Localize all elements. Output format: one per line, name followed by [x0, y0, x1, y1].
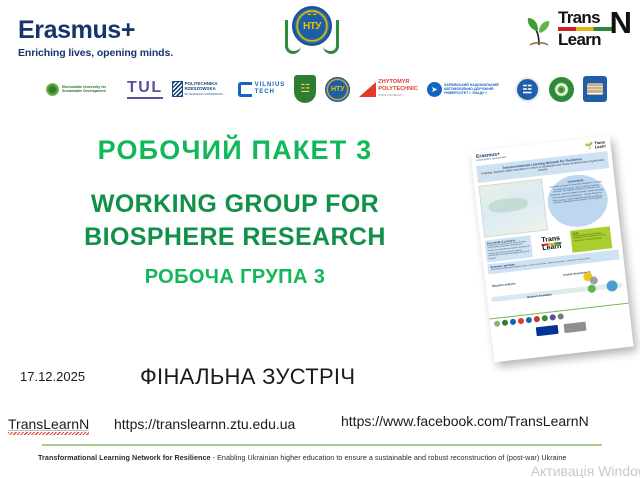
poster-partner-dot-9: [557, 313, 564, 320]
translearn-logo: Trans Learn N: [524, 10, 612, 47]
facebook-link[interactable]: https://www.facebook.com/TransLearnN: [341, 413, 589, 429]
poster-consortium-circle: Consortium Eberswalde University for Sus…: [545, 172, 611, 230]
poster-partner-dot-1: [494, 320, 501, 327]
roadmap-dot-green: [587, 285, 596, 294]
erasmus-logo-tagline: Enriching lives, opening minds.: [18, 47, 173, 59]
ntu-crest-icon: ☳ НТУ: [283, 4, 341, 62]
title-ukrainian-main: РОБОЧИЙ ПАКЕТ 3: [0, 137, 470, 164]
poster-partner-dot-2: [502, 319, 509, 326]
partner-label-eberswalde: Eberswalde University for Sustainable De…: [62, 85, 118, 94]
khadi-line3: УНІВЕРСИТЕТ « ХНАДУ »: [444, 91, 487, 95]
poster-seedling-icon: 🌱: [585, 142, 595, 151]
poster-europe-map: [478, 179, 547, 238]
poster-goal-box: Goal Strengthening the roles of Ukrainia…: [570, 226, 612, 252]
partner-logo-green-emblem: ◉: [549, 74, 574, 104]
translearn-n-letter: N: [610, 7, 632, 38]
meeting-date: 17.12.2025: [20, 369, 85, 384]
partner-logo-brick-emblem: [583, 74, 607, 104]
meeting-label: ФІНАЛЬНА ЗУСТРІЧ: [140, 364, 355, 390]
roadmap-dot-gray: [589, 276, 598, 285]
poster-results-body: Establishing a learning network across U…: [487, 241, 530, 261]
poster-partner-dot-3: [510, 318, 517, 325]
crest-abbr: НТУ: [301, 15, 323, 37]
poster-partner-dot-5: [526, 316, 533, 323]
title-english-line1: WORKING GROUP FOR: [0, 188, 470, 221]
poster-partner-dot-7: [541, 315, 548, 322]
poster-translearn-logo: 🌱 Trans Learn: [585, 140, 606, 150]
rzeszow-line3: IM. IGNACEGO ŁUKASIEWICZA: [185, 93, 223, 96]
poster-partner-dot-6: [533, 315, 540, 322]
erasmus-plus-logo: Erasmus+ Enriching lives, opening minds.: [18, 18, 173, 59]
partner-label-khadi: ХАРКІВСЬКИЙ НАЦІОНАЛЬНИЙ АВТОМОБІЛЬНО-ДО…: [444, 83, 506, 96]
poster-tl-learn: Learn: [595, 143, 606, 149]
erasmus-logo-name: Erasmus+: [18, 18, 173, 43]
ntu-circle-icon: НТУ: [325, 77, 350, 102]
presentation-slide: Erasmus+ Enriching lives, opening minds.…: [0, 0, 640, 478]
footer-tagline-rest: - Enabling Ukrainian higher education to…: [211, 453, 567, 462]
partner-label-tul: TUL: [127, 80, 163, 99]
partner-label-zhytomyr: ZHYTOMYR POLYTECHNIC STATE UNIVERSITY: [378, 79, 418, 98]
rzeszow-line2: RZESZOWSKA: [185, 86, 216, 91]
brand-link-label[interactable]: TransLearnN: [8, 416, 89, 432]
green-emblem-icon: ◉: [549, 77, 574, 102]
partner-logo-khadi: ➤ ХАРКІВСЬКИЙ НАЦІОНАЛЬНИЙ АВТОМОБІЛЬНО-…: [427, 74, 506, 104]
vilnius-bracket-icon: [238, 82, 252, 97]
partner-label-vilnius: VILNIUS TECH: [255, 82, 286, 97]
zhytomyr-triangle-icon: [359, 82, 376, 97]
zhytomyr-line3: STATE UNIVERSITY: [378, 94, 403, 97]
green-shield-icon: ☳: [294, 75, 316, 103]
partner-logo-rzeszow: POLITECHNIKA RZESZOWSKA IM. IGNACEGO ŁUK…: [172, 74, 229, 104]
crest-ring-icon: ☳ НТУ: [292, 6, 332, 46]
slide-title-block: РОБОЧИЙ ПАКЕТ 3 WORKING GROUP FOR BIOSPH…: [0, 137, 470, 289]
website-link[interactable]: https://translearnn.ztu.edu.ua: [114, 416, 295, 432]
zhytomyr-line2: POLYTECHNIC: [378, 86, 418, 92]
project-poster-image: Erasmus+ Enriching lives, opening minds …: [470, 136, 633, 362]
poster-tl-words: Trans Learn: [594, 141, 606, 149]
partner-logo-eberswalde: Eberswalde University for Sustainable De…: [46, 74, 118, 104]
title-ukrainian-sub: РОБОЧА ГРУПА 3: [0, 266, 470, 289]
title-english: WORKING GROUP FOR BIOSPHERE RESEARCH: [0, 188, 470, 254]
poster-center-logo: Trans Learn: [532, 231, 570, 257]
trident-glyph-icon: ☳: [300, 84, 310, 95]
khadi-swoosh-icon: ➤: [427, 82, 442, 97]
seedling-icon: [524, 11, 554, 47]
zhytomyr-line1: ZHYTOMYR: [378, 79, 409, 85]
tree-icon: [46, 83, 59, 96]
column-icon: [172, 81, 183, 97]
partner-logo-vilnius-tech: VILNIUS TECH: [238, 74, 286, 104]
vilnius-line1: VILNIUS: [255, 82, 286, 88]
poster-center-learn: Learn: [542, 243, 562, 252]
poster-partner-dot-4: [518, 317, 525, 324]
poster-erasmus-logo: Erasmus+ Enriching lives, opening minds: [476, 152, 506, 162]
poster-center-wordmark: Trans Learn: [541, 236, 562, 252]
partner-logo-strip: Eberswalde University for Sustainable De…: [46, 72, 594, 106]
blue-trident-icon: ☳: [515, 77, 540, 102]
partner-logo-tul: TUL: [127, 74, 163, 104]
footer-tagline: Transformational Learning Network for Re…: [38, 453, 566, 462]
partner-logo-blue-trident: ☳: [515, 74, 540, 104]
footer-tagline-bold: Transformational Learning Network for Re…: [38, 453, 211, 462]
ministry-logo-icon: [564, 321, 587, 332]
translearn-trans-text: Trans: [558, 10, 612, 26]
partner-logo-ntu: НТУ: [325, 74, 350, 104]
poster-results-box: Key results & products Establishing a le…: [485, 235, 533, 262]
translearn-learn-text: Learn: [558, 32, 612, 48]
partner-label-rzeszow: POLITECHNIKA RZESZOWSKA IM. IGNACEGO ŁUK…: [185, 81, 229, 97]
vilnius-line2: TECH: [255, 89, 275, 95]
brick-shield-icon: [583, 76, 607, 102]
windows-activation-watermark: Активація Window: [531, 463, 640, 478]
eu-flag-icon: [536, 324, 559, 335]
translearn-wordmark: Trans Learn N: [558, 10, 612, 47]
poster-partner-dot-8: [549, 314, 556, 321]
partner-logo-nubip: ☳: [294, 74, 316, 104]
roadmap-step-1: Situation analysis: [492, 282, 516, 289]
title-english-line2: BIOSPHERE RESEARCH: [0, 221, 470, 254]
roadmap-dot-blue: [606, 280, 618, 292]
partner-logo-zhytomyr: ZHYTOMYR POLYTECHNIC STATE UNIVERSITY: [359, 74, 418, 104]
footer-divider: [42, 444, 602, 446]
